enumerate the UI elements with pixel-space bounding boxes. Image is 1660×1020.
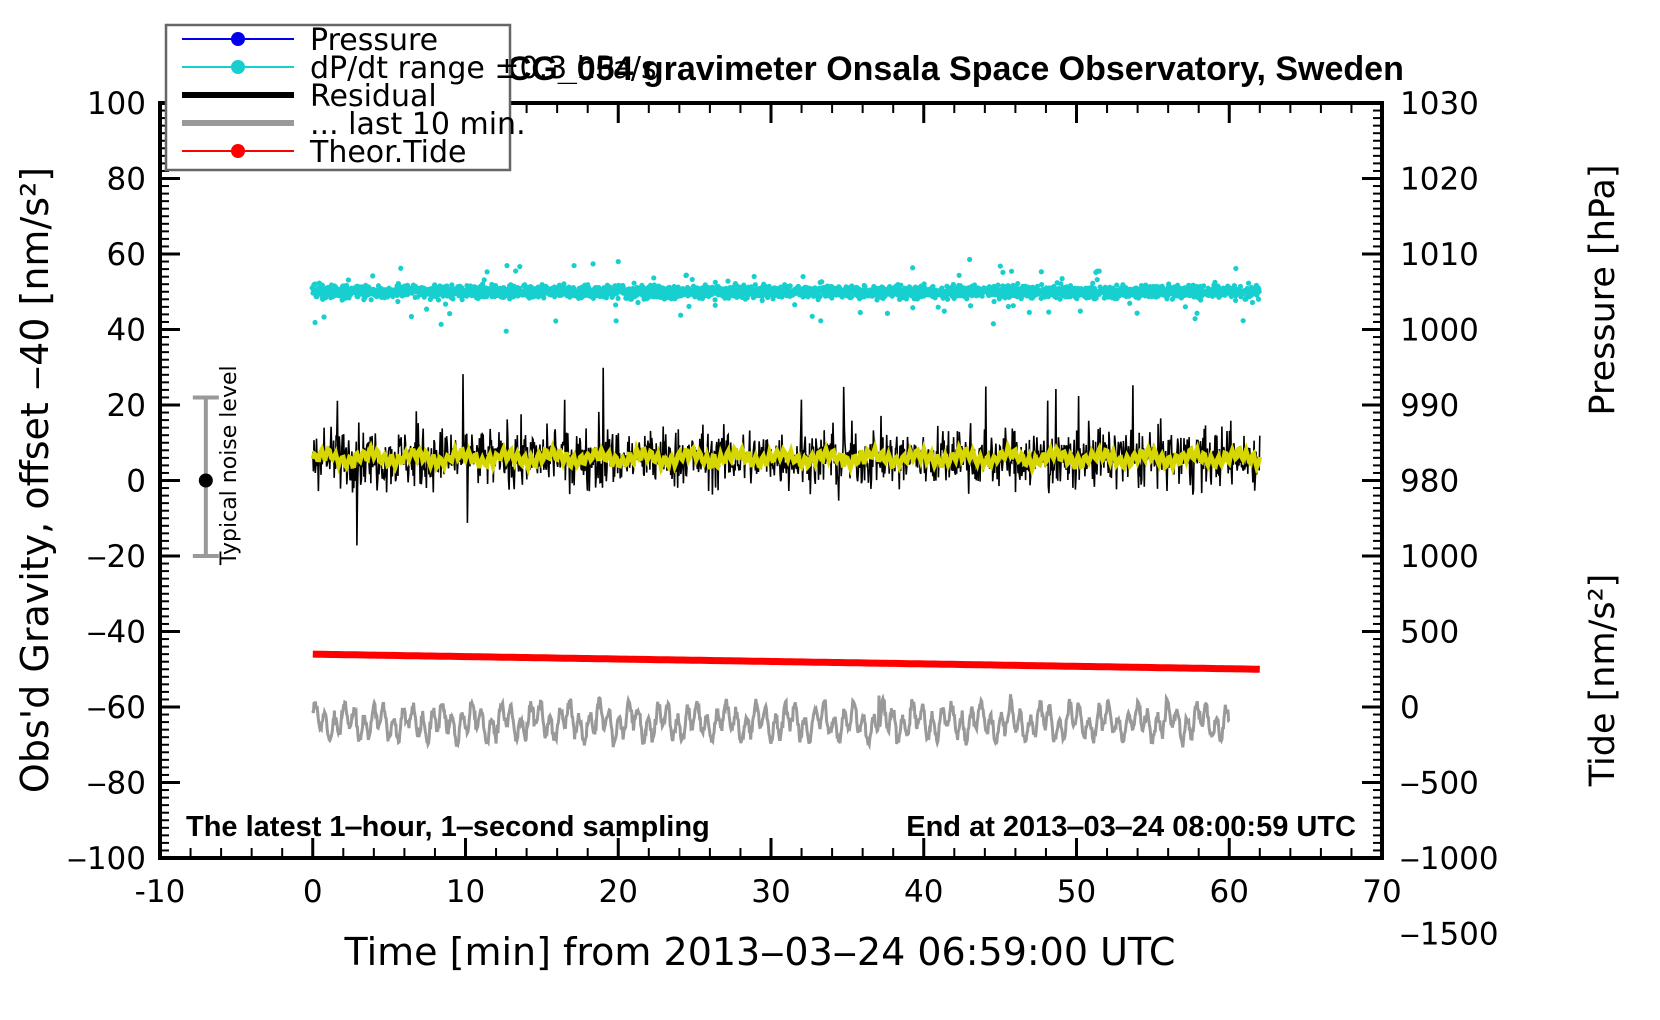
legend-swatch-marker: [231, 32, 245, 46]
dpdt-point: [1241, 318, 1246, 323]
dpdt-point: [1060, 276, 1065, 281]
dpdt-point: [590, 261, 595, 266]
y-axis-right-pressure-title: Pressure [hPa]: [1583, 164, 1623, 415]
dpdt-point: [369, 297, 374, 302]
dpdt-point: [678, 313, 683, 318]
x-tick-label: 10: [446, 874, 485, 910]
dpdt-point: [713, 303, 718, 308]
dpdt-point: [614, 318, 619, 323]
y-tick-label-left: 20: [107, 388, 146, 424]
dpdt-point: [450, 296, 455, 301]
dpdt-point: [553, 318, 558, 323]
dpdt-point: [998, 263, 1003, 268]
dpdt-point: [684, 273, 689, 278]
dpdt-point: [752, 274, 757, 279]
dpdt-point: [690, 277, 695, 282]
dpdt-point: [858, 310, 863, 315]
y-axis-left-title: Obs'd Gravity, offset ‒40 [nm/s²]: [13, 167, 57, 793]
x-tick-label: -10: [135, 874, 186, 910]
legend-swatch-marker: [231, 60, 245, 74]
dpdt-point: [686, 304, 691, 309]
dpdt-point: [616, 259, 621, 264]
dpdt-point: [424, 306, 429, 311]
dpdt-point: [485, 269, 490, 274]
dpdt-point: [513, 268, 518, 273]
dpdt-point: [788, 283, 793, 288]
dpdt-point: [443, 302, 448, 307]
dpdt-point: [1011, 303, 1016, 308]
dpdt-point: [561, 281, 566, 286]
dpdt-point: [398, 266, 403, 271]
dpdt-point: [818, 318, 823, 323]
y-tick-label-right-pressure: 1030: [1400, 86, 1479, 122]
dpdt-point: [968, 303, 973, 308]
dpdt-point: [1135, 311, 1140, 316]
dpdt-point: [910, 305, 915, 310]
y-axis-right-tide-title: Tide [nm/s²]: [1583, 574, 1623, 788]
dpdt-point: [1114, 282, 1119, 287]
y-tick-label-right-pressure: 990: [1400, 388, 1459, 424]
latest-sampling-note: The latest 1‒hour, 1‒second sampling: [186, 811, 710, 843]
dpdt-point: [936, 305, 941, 310]
y-axis-right-tide-tick-labels: 10005000‒500‒1000‒1500: [1400, 539, 1499, 953]
dpdt-point: [1000, 270, 1005, 275]
y-tick-label-right-pressure: 1000: [1400, 313, 1479, 349]
x-tick-label: 70: [1362, 874, 1401, 910]
dpdt-point: [810, 314, 815, 319]
y-tick-label-right-pressure: 980: [1400, 464, 1459, 500]
dpdt-point: [994, 284, 999, 289]
x-tick-label: 60: [1210, 874, 1249, 910]
dpdt-point: [436, 297, 441, 302]
y-tick-label-right-tide: ‒1500: [1400, 917, 1499, 953]
dpdt-point: [1256, 297, 1261, 302]
dpdt-point: [613, 302, 618, 307]
dpdt-point: [957, 273, 962, 278]
dpdt-point: [991, 299, 996, 304]
dpdt-point: [1078, 309, 1083, 314]
typical-noise-level-label: Typical noise level: [217, 365, 242, 566]
gravimeter-plot: 100806040200‒20‒40‒60‒80‒100 10301020101…: [0, 0, 1660, 1020]
dpdt-point: [395, 299, 400, 304]
dpdt-point: [1127, 301, 1132, 306]
dpdt-point: [1095, 277, 1100, 282]
dpdt-point: [1039, 282, 1044, 287]
dpdt-point: [800, 274, 805, 279]
dpdt-point: [885, 311, 890, 316]
y-tick-label-left: ‒60: [87, 690, 146, 726]
dpdt-point: [1039, 269, 1044, 274]
dpdt-point: [1090, 281, 1095, 286]
dpdt-point: [409, 314, 414, 319]
y-tick-label-left: 60: [107, 237, 146, 273]
legend-item-label: Theor.Tide: [309, 135, 467, 170]
y-tick-label-left: 0: [126, 464, 146, 500]
gravimeter-chart-page: 100806040200‒20‒40‒60‒80‒100 10301020101…: [0, 0, 1660, 1020]
dpdt-point: [635, 300, 640, 305]
dpdt-point: [370, 273, 375, 278]
dpdt-point: [1009, 269, 1014, 274]
y-tick-label-left: 100: [87, 86, 146, 122]
dpdt-point: [1046, 309, 1051, 314]
y-tick-label-left: ‒80: [87, 766, 146, 802]
dpdt-point: [321, 314, 326, 319]
dpdt-point: [922, 281, 927, 286]
y-tick-label-right-pressure: 1010: [1400, 237, 1479, 273]
dpdt-point: [847, 295, 852, 300]
dpdt-point: [1006, 304, 1011, 309]
dpdt-point: [1097, 269, 1102, 274]
dpdt-point: [482, 277, 487, 282]
dpdt-point: [910, 265, 915, 270]
dpdt-point: [898, 283, 903, 288]
dpdt-point: [1192, 316, 1197, 321]
dpdt-point: [818, 280, 823, 285]
y-tick-label-right-pressure: 1020: [1400, 162, 1479, 198]
dpdt-point: [631, 281, 636, 286]
dpdt-point: [1233, 298, 1238, 303]
dpdt-point: [651, 275, 656, 280]
y-tick-label-left: ‒20: [87, 539, 146, 575]
y-tick-label-right-tide: ‒500: [1400, 766, 1479, 802]
x-axis-tick-labels: -10010203040506070: [135, 874, 1402, 910]
dpdt-point: [346, 277, 351, 282]
legend-swatch-marker: [231, 144, 245, 158]
dpdt-point: [504, 329, 509, 334]
dpdt-point: [1015, 281, 1020, 286]
y-axis-left-tick-labels: 100806040200‒20‒40‒60‒80‒100: [67, 86, 146, 877]
dpdt-point: [504, 263, 509, 268]
y-tick-label-left: ‒100: [67, 841, 146, 877]
x-tick-label: 30: [751, 874, 790, 910]
plot-frame: [160, 103, 1382, 858]
y-tick-label-left: ‒40: [87, 615, 146, 651]
dpdt-point: [439, 322, 444, 327]
y-axis-right-pressure-tick-labels: 1030102010101000990980: [1400, 86, 1479, 500]
dpdt-point: [644, 296, 649, 301]
y-tick-label-right-tide: 0: [1400, 690, 1420, 726]
dpdt-point: [517, 264, 522, 269]
dpdt-point: [792, 302, 797, 307]
dpdt-point: [1246, 281, 1251, 286]
dpdt-point: [991, 321, 996, 326]
dpdt-point: [713, 280, 718, 285]
dpdt-point: [1250, 300, 1255, 305]
y-tick-label-right-tide: ‒1000: [1400, 841, 1499, 877]
dpdt-point: [712, 297, 717, 302]
dpdt-point: [1257, 289, 1262, 294]
dpdt-point: [967, 257, 972, 262]
dpdt-point: [1194, 311, 1199, 316]
dpdt-point: [725, 279, 730, 284]
y-tick-label-left: 40: [107, 313, 146, 349]
y-tick-label-left: 80: [107, 162, 146, 198]
dpdt-point: [1238, 284, 1243, 289]
end-time-note: End at 2013‒03‒24 08:00:59 UTC: [906, 811, 1356, 843]
dpdt-point: [945, 297, 950, 302]
dpdt-point: [942, 309, 947, 314]
dpdt-point: [1233, 266, 1238, 271]
x-axis-title: Time [min] from 2013‒03‒24 06:59:00 UTC: [344, 930, 1176, 974]
dpdt-point: [447, 311, 452, 316]
x-tick-label: 50: [1057, 874, 1096, 910]
dpdt-point: [571, 263, 576, 268]
y-tick-label-right-tide: 1000: [1400, 539, 1479, 575]
dpdt-point: [615, 296, 620, 301]
dpdt-point: [312, 320, 317, 325]
dpdt-point: [1201, 283, 1206, 288]
x-tick-label: 20: [599, 874, 638, 910]
y-tick-label-right-tide: 500: [1400, 615, 1459, 651]
x-tick-label: 40: [904, 874, 943, 910]
dpdt-point: [1198, 297, 1203, 302]
x-tick-label: 0: [303, 874, 323, 910]
dpdt-point: [980, 294, 985, 299]
noise-bar-center-dot: [199, 474, 213, 488]
dpdt-point: [1027, 310, 1032, 315]
dpdt-point: [1183, 304, 1188, 309]
